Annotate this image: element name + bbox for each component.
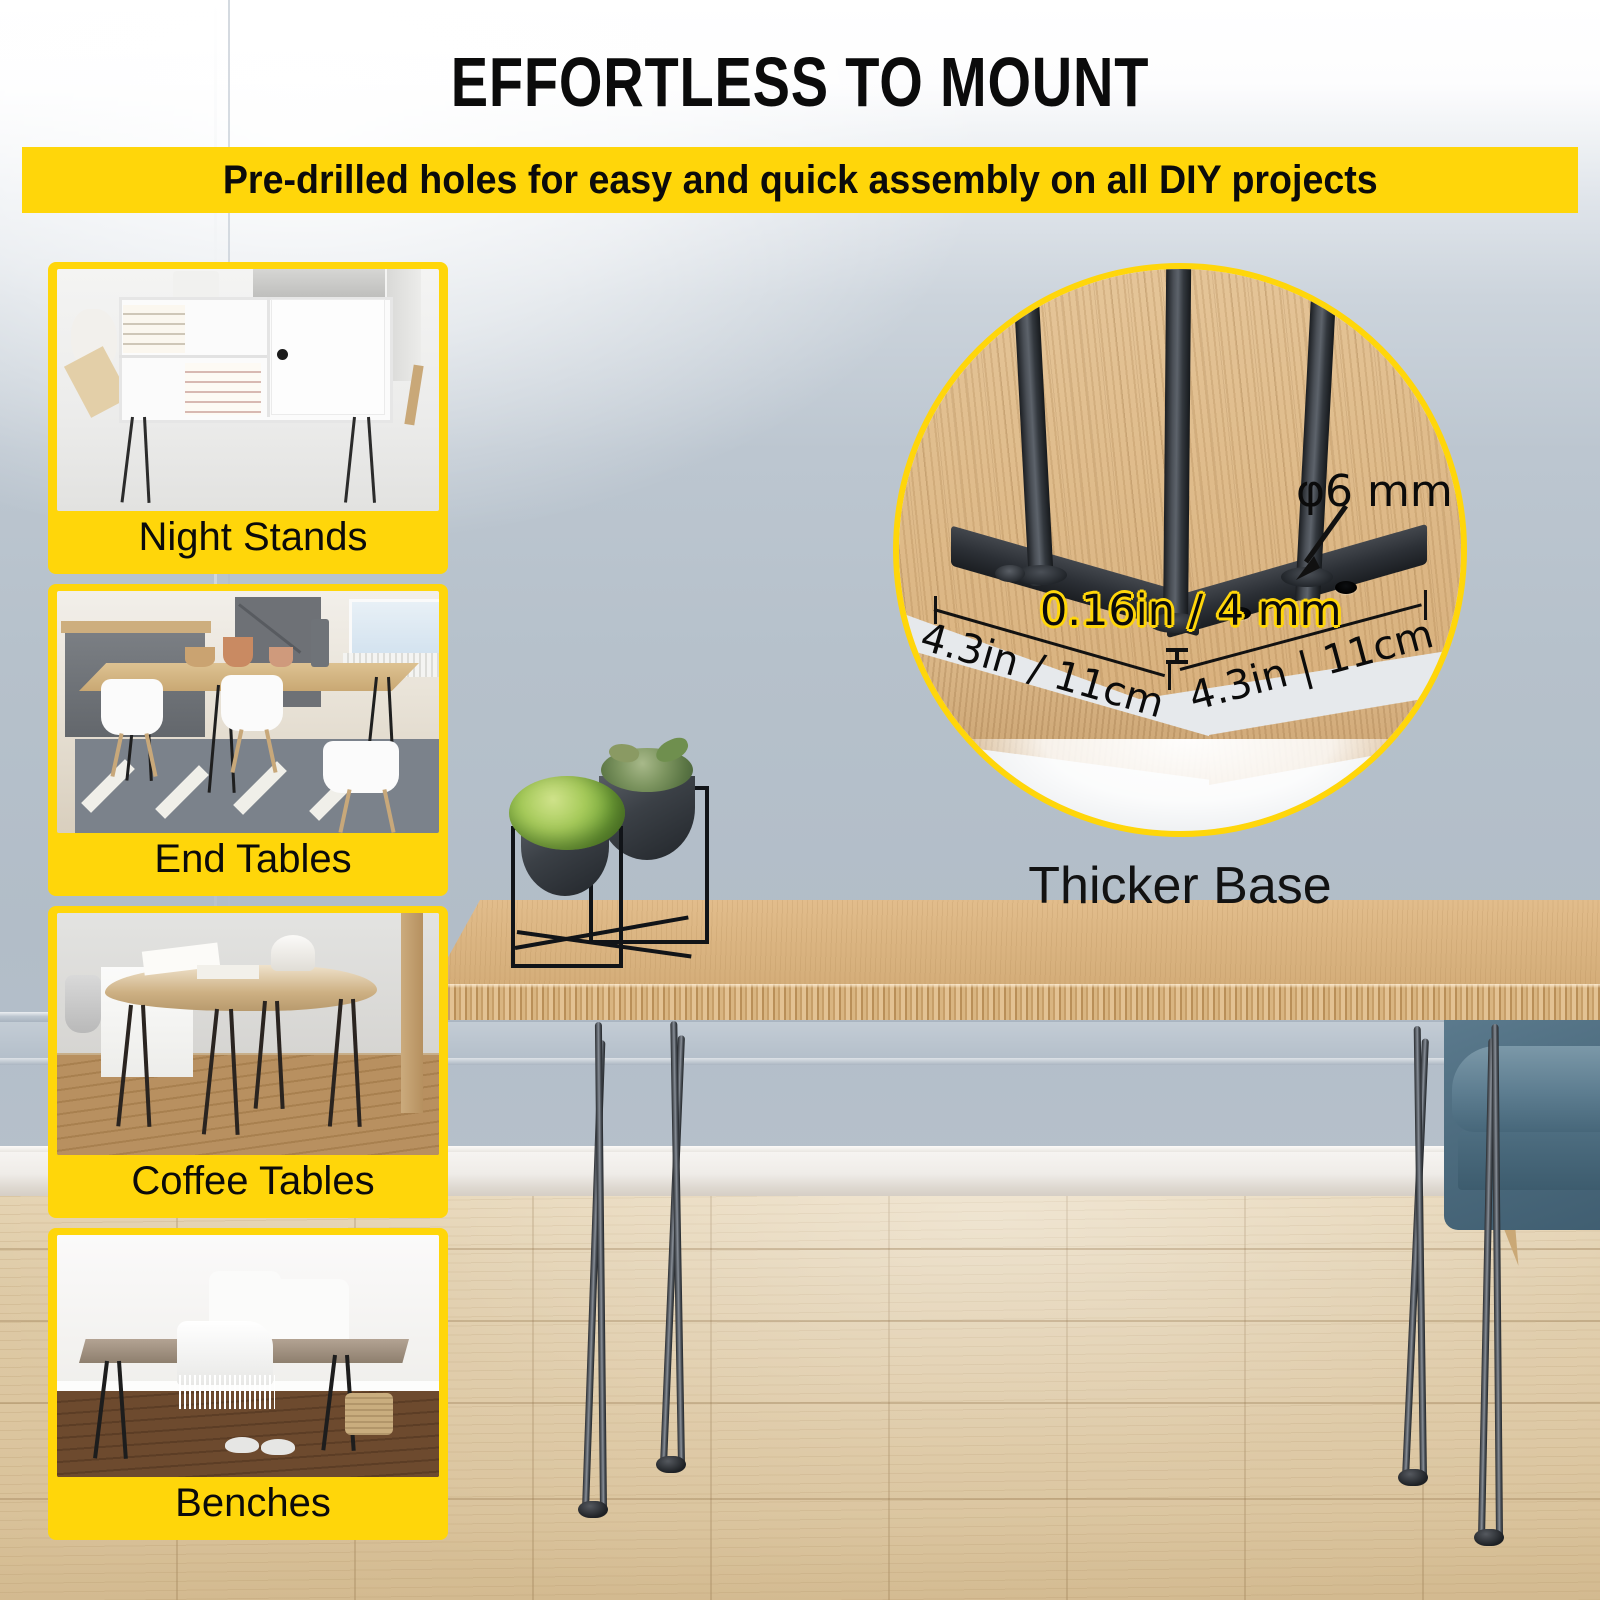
table-leg-front-left-rear [646, 1010, 766, 1465]
use-case-label: Night Stands [53, 505, 448, 569]
use-case-label: Coffee Tables [53, 1149, 448, 1213]
use-case-card-benches[interactable]: Benches [48, 1228, 448, 1540]
copper-vessel [223, 637, 253, 667]
slipper [261, 1439, 295, 1455]
leg-rod [1492, 1024, 1503, 1538]
thickness-marker-icon [1166, 648, 1188, 664]
table-leg-rear-right [1462, 1010, 1582, 1538]
planter-decor [505, 740, 715, 990]
moss-ball-plant [509, 776, 625, 850]
detail-zoom-callout [893, 263, 1467, 837]
use-case-card-list: Night Stands [48, 262, 448, 1550]
use-case-label: End Tables [53, 827, 448, 891]
use-case-thumbnail [57, 913, 439, 1155]
cabinet-vertical-divider [267, 297, 270, 417]
hole-pointer-arrow-icon [1288, 500, 1358, 584]
book-stack [123, 305, 185, 353]
bowl [185, 647, 215, 667]
scene-entryway-bench [57, 1235, 439, 1477]
vase [311, 619, 329, 667]
dining-chair [323, 741, 399, 793]
hairpin-leg [143, 417, 150, 503]
dim-label-plate-thickness: 0.16in / 4 mm [1040, 586, 1342, 636]
use-case-card-end-tables[interactable]: End Tables [48, 584, 448, 896]
detail-caption: Thicker Base [893, 856, 1467, 916]
hairpin-leg [344, 417, 356, 503]
use-case-thumbnail [57, 1235, 439, 1477]
closed-book [197, 965, 259, 979]
slipper [225, 1437, 259, 1453]
dining-chair [101, 679, 163, 735]
use-case-label: Benches [53, 1471, 448, 1535]
subtitle-text: Pre-drilled holes for easy and quick ass… [223, 158, 1378, 203]
book-stack [185, 363, 261, 415]
leg-foot [1398, 1469, 1428, 1486]
page-title: EFFORTLESS TO MOUNT [160, 42, 1440, 122]
hairpin-rod-center [1163, 263, 1191, 631]
leg-rod [595, 1022, 607, 1510]
woven-basket [345, 1393, 393, 1435]
use-case-card-night-stands[interactable]: Night Stands [48, 262, 448, 574]
dining-chair [221, 675, 283, 731]
leg-foot [1474, 1529, 1504, 1546]
storage-bin [253, 269, 385, 299]
product-infographic: EFFORTLESS TO MOUNT Pre-drilled holes fo… [0, 0, 1600, 1600]
subtitle-banner: Pre-drilled holes for easy and quick ass… [22, 147, 1578, 213]
cabinet-door [271, 299, 385, 415]
scene-dining-table [57, 591, 439, 833]
scene-live-edge-table [57, 913, 439, 1155]
scene-night-stand [57, 269, 439, 511]
use-case-thumbnail [57, 591, 439, 833]
cabinet-shelf-divider [119, 355, 269, 358]
sideboard-top [61, 621, 211, 633]
table-lamp [271, 935, 315, 971]
blanket-fringe [179, 1375, 275, 1409]
mug [269, 647, 293, 667]
hairpin-leg [121, 417, 134, 503]
leg-foot [656, 1456, 686, 1473]
hairpin-leg [367, 417, 376, 503]
bottom-glow [933, 739, 1443, 837]
cabinet-knob [277, 349, 288, 360]
door-jamb [401, 913, 423, 1113]
screw-head [995, 565, 1025, 582]
use-case-thumbnail [57, 269, 439, 511]
use-case-card-coffee-tables[interactable]: Coffee Tables [48, 906, 448, 1218]
glass-jar [65, 975, 101, 1033]
leg-foot [578, 1501, 608, 1518]
